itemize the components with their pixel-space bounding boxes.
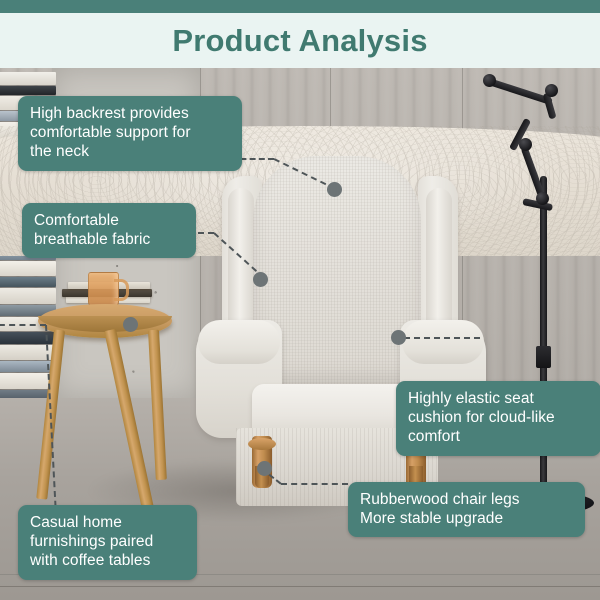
- dot-coffee-table: [123, 317, 138, 332]
- callout-high-backrest[interactable]: High backrest provides comfortable suppo…: [18, 96, 242, 171]
- connector-seat-cushion-h: [404, 337, 480, 339]
- page-title: Product Analysis: [172, 25, 427, 56]
- title-band: Product Analysis: [0, 13, 600, 68]
- dot-high-backrest: [327, 182, 342, 197]
- product-analysis-infographic: Product Analysis: [0, 0, 600, 600]
- chair-arm-roll-left: [198, 320, 280, 364]
- callout-breathable-fabric[interactable]: Comfortable breathable fabric: [22, 203, 196, 258]
- dot-chair-legs: [257, 461, 272, 476]
- connector-legs-h: [281, 483, 348, 485]
- dot-breathable-fabric: [253, 272, 268, 287]
- connector-table-h: [0, 324, 46, 326]
- callout-seat-cushion[interactable]: Highly elastic seat cushion for cloud-li…: [396, 381, 600, 456]
- dot-seat-cushion: [391, 330, 406, 345]
- callout-coffee-table[interactable]: Casual home furnishings paired with coff…: [18, 505, 197, 580]
- top-accent-bar: [0, 0, 600, 13]
- chair-arm-roll-right: [402, 320, 484, 364]
- callout-chair-legs[interactable]: Rubberwood chair legs More stable upgrad…: [348, 482, 585, 537]
